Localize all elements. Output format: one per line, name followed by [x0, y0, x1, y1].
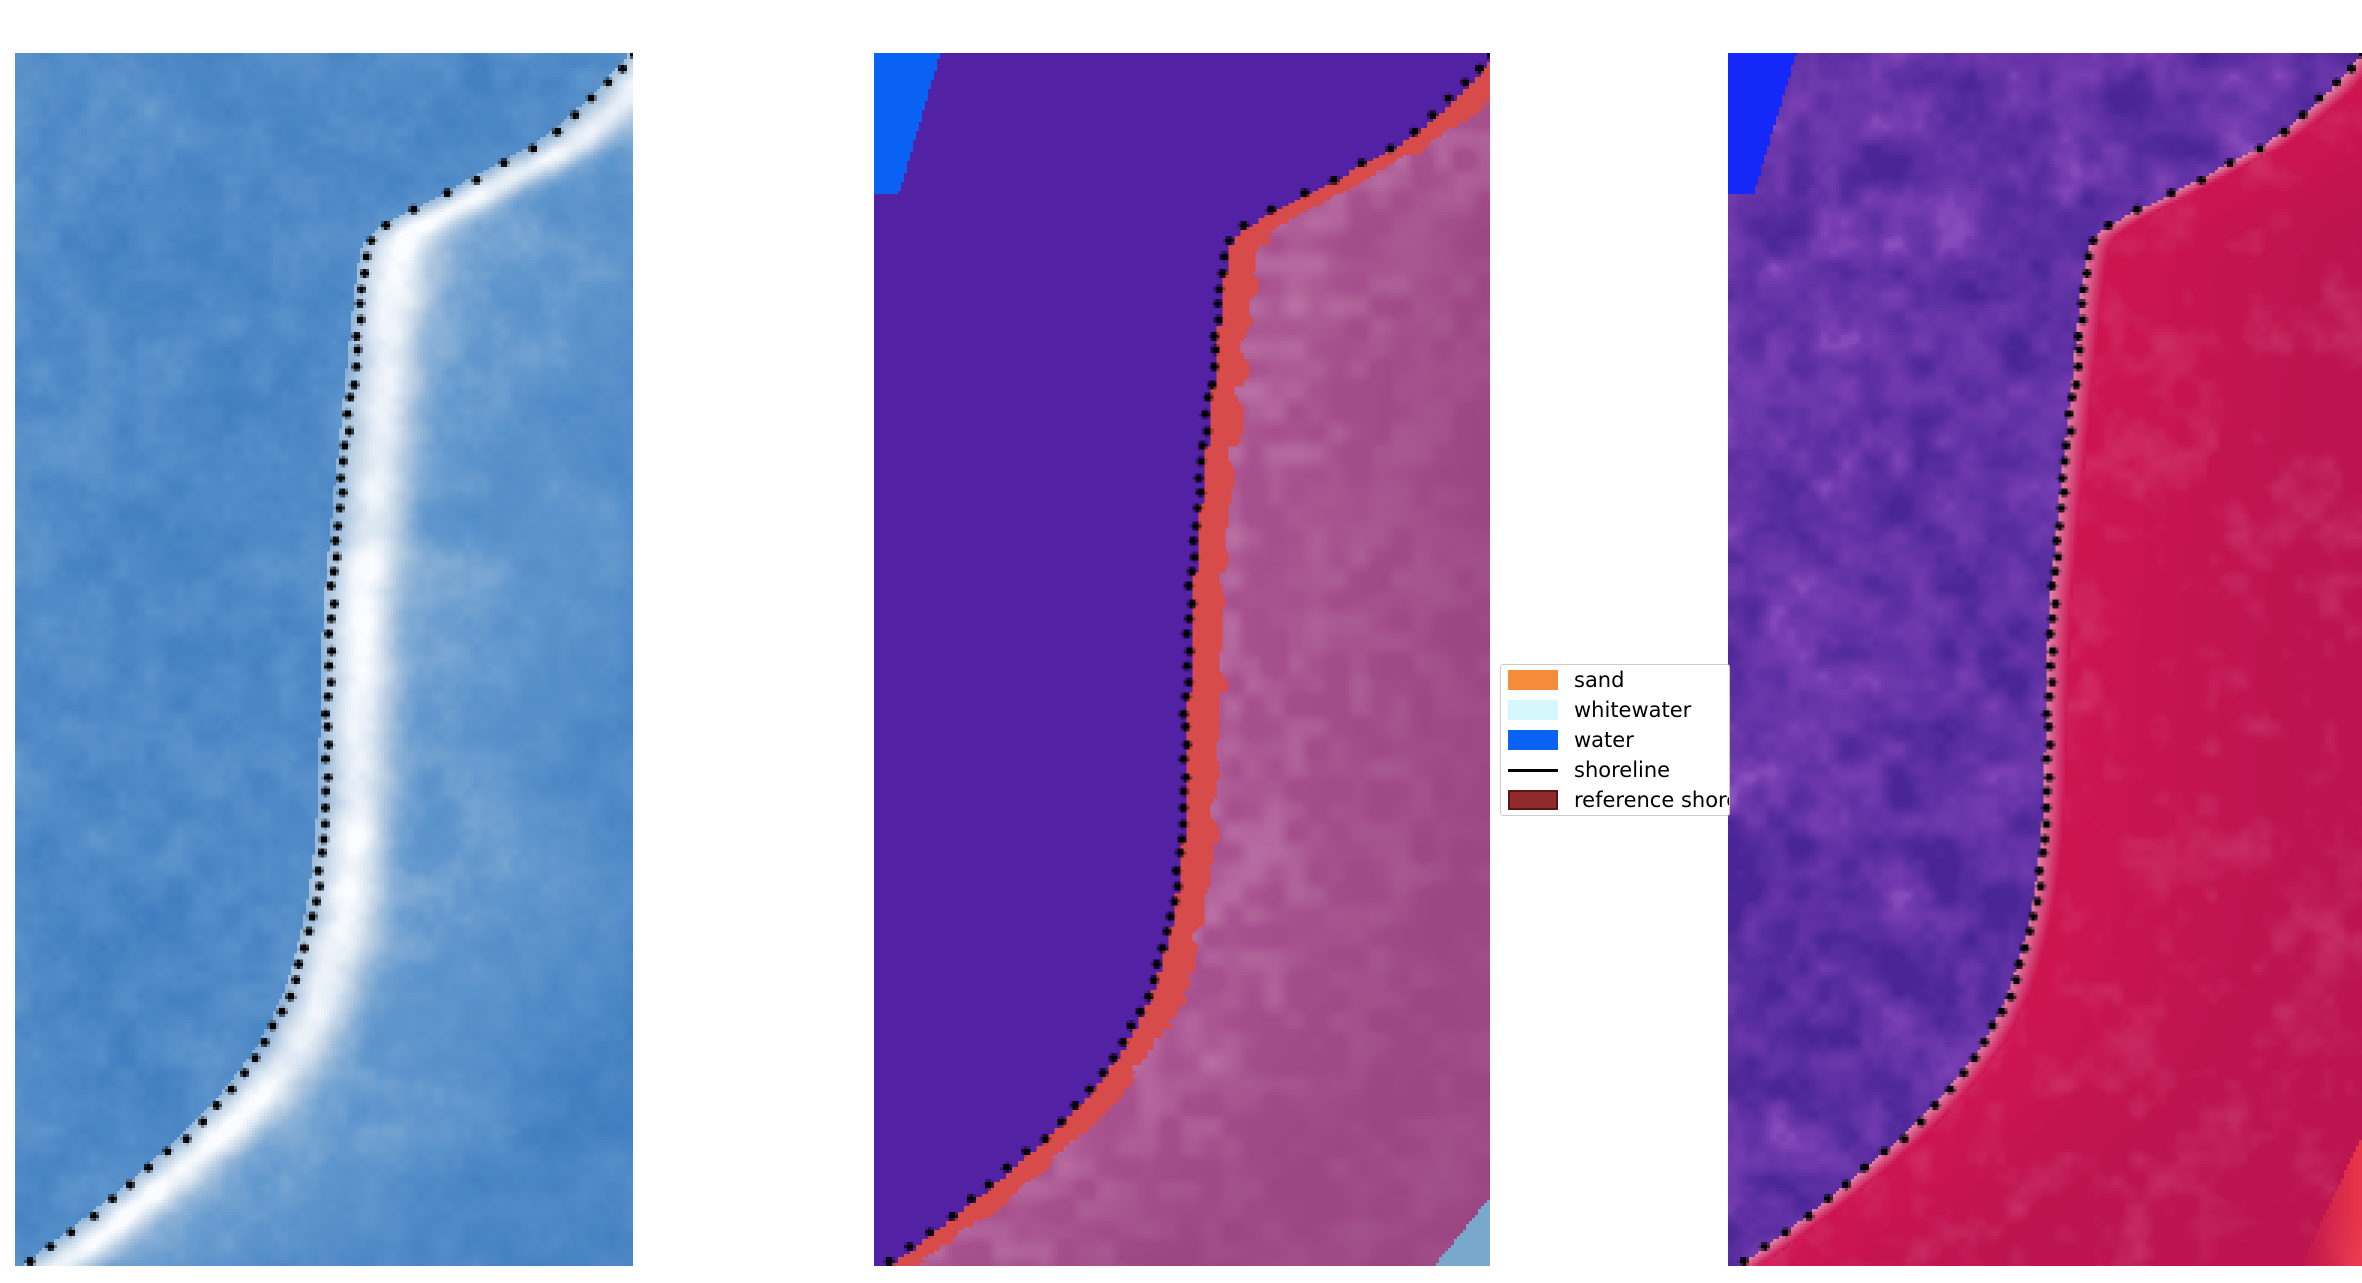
legend-label-reference-shore: reference shore: [1574, 788, 1730, 812]
legend-label-water: water: [1574, 728, 1634, 752]
classification-image-canvas: [874, 53, 1490, 1266]
panel-classification: 2001-06-30-09-55-52: [874, 53, 1490, 1266]
whitewater-swatch-icon: [1508, 700, 1558, 720]
l7-image: [1728, 53, 2362, 1266]
sand-swatch-icon: [1508, 670, 1558, 690]
legend-item-water: water: [1501, 725, 1729, 755]
shoreline-line-icon: [1508, 769, 1558, 772]
sar-image: [15, 53, 633, 1266]
panel-l7: L7: [1728, 53, 2362, 1266]
legend-label-sand: sand: [1574, 668, 1624, 692]
figure-root: sar0724 2001-06-30-09-55-52 L7 sand whit…: [0, 0, 2362, 1283]
legend: sand whitewater water shoreline referenc…: [1500, 664, 1730, 816]
l7-image-canvas: [1728, 53, 2362, 1266]
classification-image: [874, 53, 1490, 1266]
legend-label-shoreline: shoreline: [1574, 758, 1670, 782]
sar-image-canvas: [15, 53, 633, 1266]
legend-item-reference-shore: reference shore: [1501, 785, 1729, 815]
legend-item-whitewater: whitewater: [1501, 695, 1729, 725]
water-swatch-icon: [1508, 730, 1558, 750]
legend-item-shoreline: shoreline: [1501, 755, 1729, 785]
reference-shore-swatch-icon: [1508, 790, 1558, 810]
legend-label-whitewater: whitewater: [1574, 698, 1691, 722]
panel-sar0724: sar0724: [15, 53, 633, 1266]
legend-item-sand: sand: [1501, 665, 1729, 695]
